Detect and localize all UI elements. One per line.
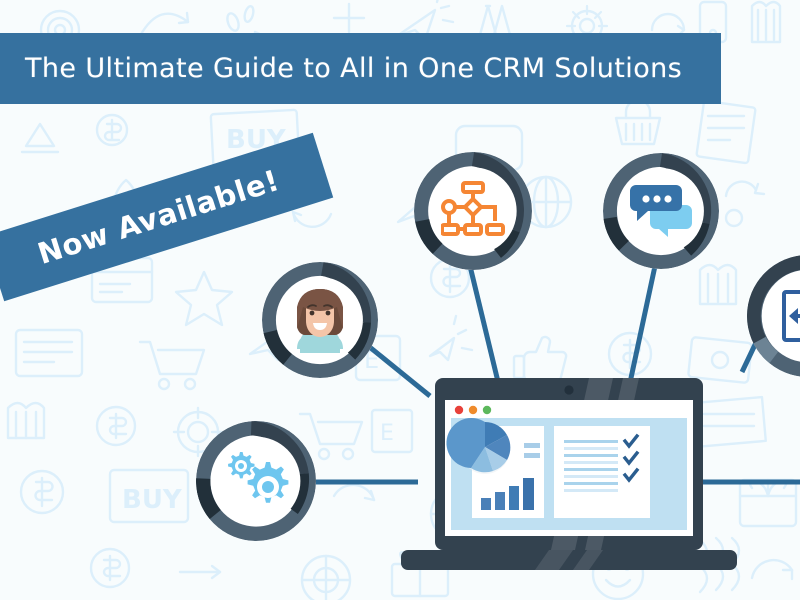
workflow-diagram-icon: [441, 181, 505, 241]
window-maximize-dot: [483, 406, 491, 414]
page-title: The Ultimate Guide to All in One CRM Sol…: [25, 53, 682, 84]
node-chat[interactable]: [603, 153, 719, 269]
window-close-dot: [455, 406, 463, 414]
window-minimize-dot: [469, 406, 477, 414]
node-settings[interactable]: [196, 421, 316, 541]
infographic-canvas: BUY BUY: [0, 0, 800, 600]
user-avatar-icon: [289, 287, 351, 353]
node-workflow[interactable]: [414, 152, 532, 270]
gears-icon: [222, 450, 290, 512]
login-arrow-icon: [778, 288, 800, 344]
laptop-dashboard: [399, 378, 739, 578]
title-banner: The Ultimate Guide to All in One CRM Sol…: [0, 33, 721, 104]
checklist-card: [554, 426, 650, 518]
node-contact[interactable]: [262, 262, 378, 378]
chat-bubbles-icon: [630, 185, 692, 237]
